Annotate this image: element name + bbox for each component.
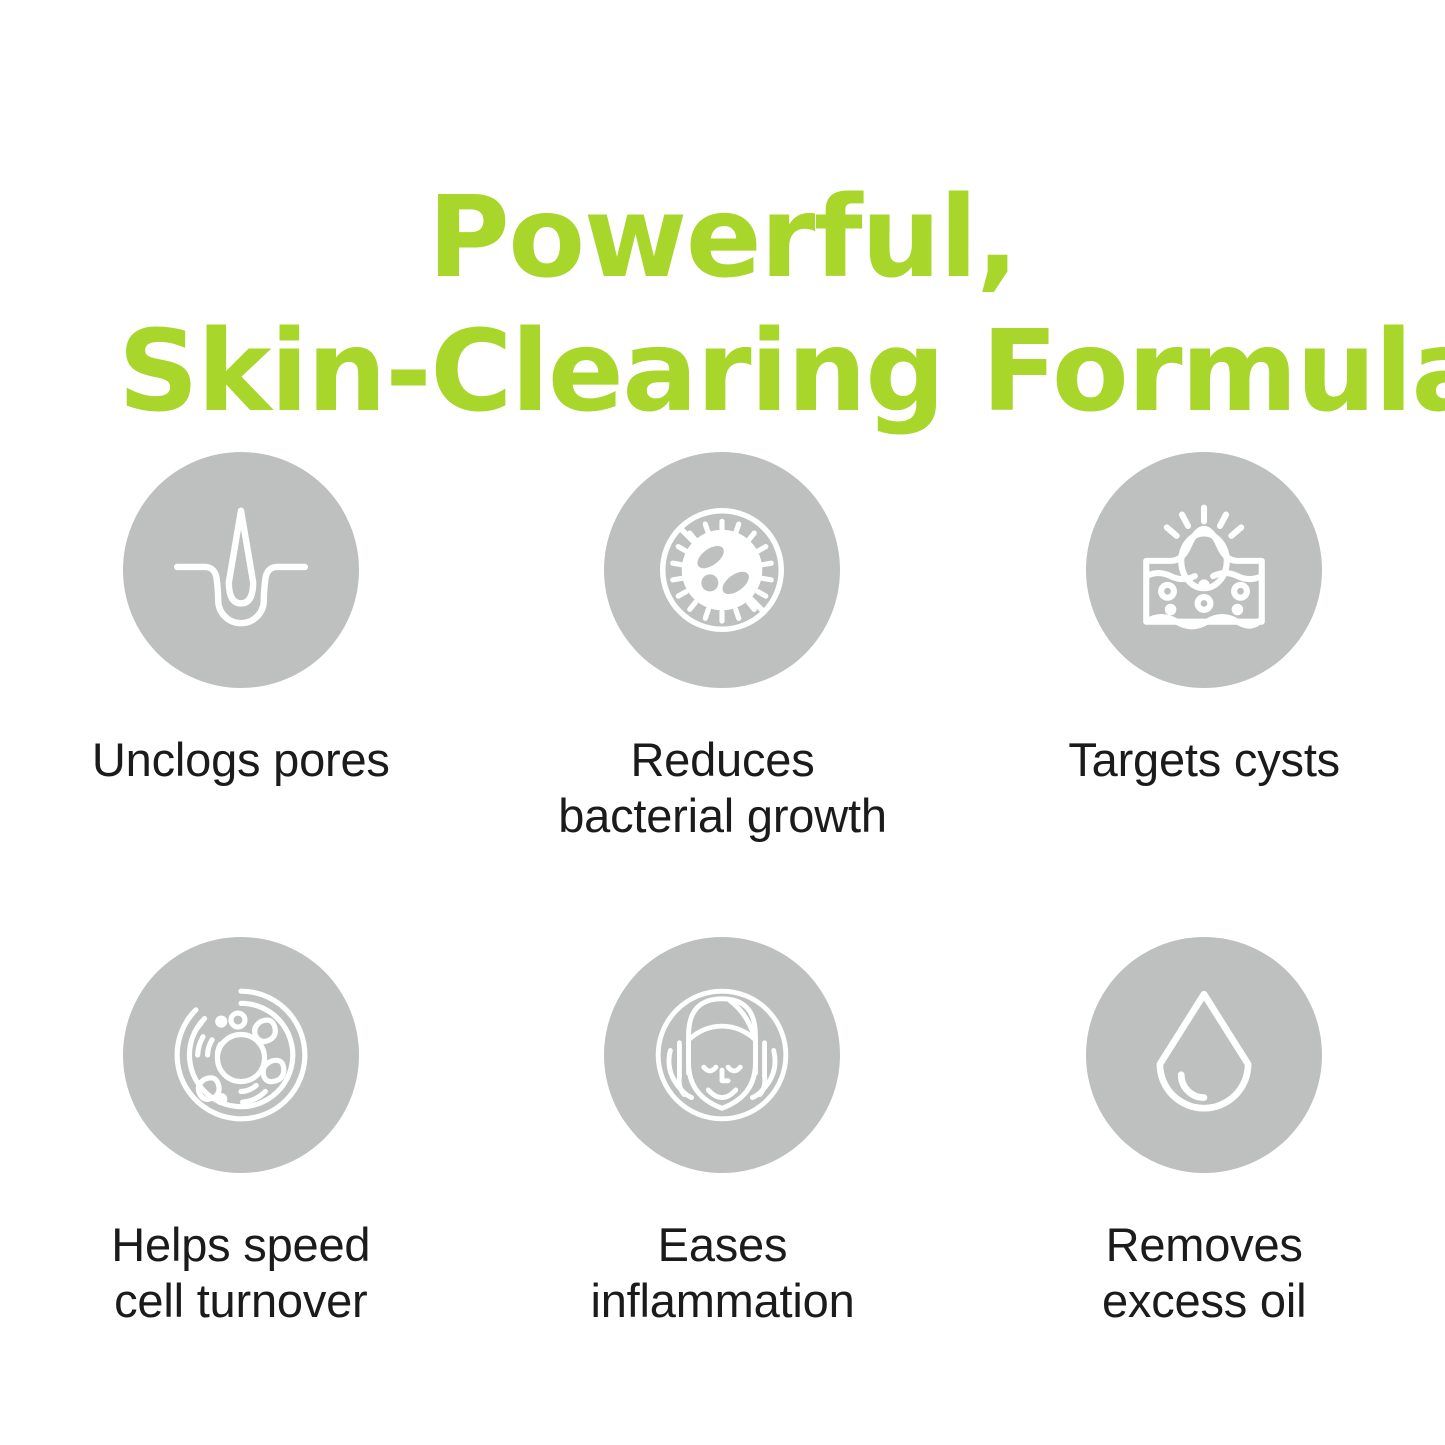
feature-caption: Targets cysts <box>1068 732 1340 788</box>
feature-caption: Eases inflammation <box>590 1217 854 1330</box>
caption-line-2: excess oil <box>1102 1273 1306 1329</box>
caption-line-1: Reduces <box>558 732 887 788</box>
icon-badge <box>604 452 840 688</box>
feature-item-cell-turnover: Helps speed cell turnover <box>0 937 482 1422</box>
feature-caption: Reduces bacterial growth <box>558 732 887 845</box>
feature-item-reduces-bacterial-growth: Reduces bacterial growth <box>482 452 964 937</box>
feature-caption: Removes excess oil <box>1102 1217 1306 1330</box>
icon-badge <box>123 452 359 688</box>
feature-item-unclogs-pores: Unclogs pores <box>0 452 482 937</box>
caption-line-1: Helps speed <box>111 1217 370 1273</box>
icon-badge <box>1086 452 1322 688</box>
icon-badge <box>604 937 840 1173</box>
caption-line-2: inflammation <box>590 1273 854 1329</box>
feature-caption: Helps speed cell turnover <box>111 1217 370 1330</box>
caption-line-1: Removes <box>1102 1217 1306 1273</box>
icon-badge <box>1086 937 1322 1173</box>
page-title: Powerful, Skin-Clearing Formula <box>0 171 1445 440</box>
caption-line-2: bacterial growth <box>558 788 887 844</box>
no-bacteria-icon <box>646 494 798 646</box>
caption-line-1: Eases <box>590 1217 854 1273</box>
cell-turnover-icon <box>165 979 317 1131</box>
page-title-line-2: Skin-Clearing Formula <box>118 305 1327 439</box>
icon-badge <box>123 937 359 1173</box>
oil-droplet-icon <box>1128 979 1280 1131</box>
pore-follicle-icon <box>165 494 317 646</box>
infographic-page: Powerful, Skin-Clearing Formula Unclogs … <box>0 0 1445 1445</box>
feature-caption: Unclogs pores <box>92 732 390 788</box>
caption-line-2: cell turnover <box>111 1273 370 1329</box>
feature-item-targets-cysts: Targets cysts <box>963 452 1445 937</box>
feature-item-eases-inflammation: Eases inflammation <box>482 937 964 1422</box>
calm-face-hands-icon <box>646 979 798 1131</box>
skin-cyst-icon <box>1128 494 1280 646</box>
caption-line-1: Targets cysts <box>1068 732 1340 788</box>
feature-item-removes-excess-oil: Removes excess oil <box>963 937 1445 1422</box>
caption-line-1: Unclogs pores <box>92 732 390 788</box>
feature-grid: Unclogs pores <box>0 452 1445 1422</box>
page-title-line-1: Powerful, <box>118 171 1327 305</box>
